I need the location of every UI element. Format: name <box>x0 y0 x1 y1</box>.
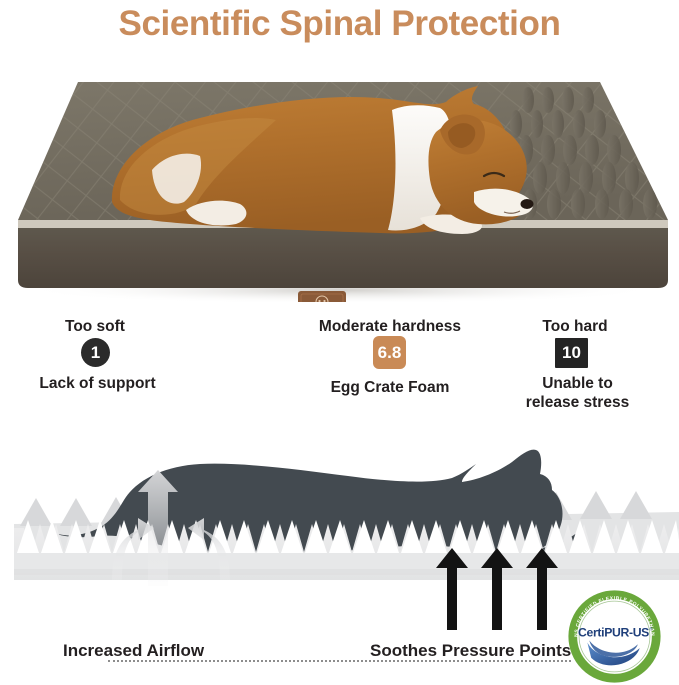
page-title: Scientific Spinal Protection <box>0 2 679 46</box>
scale-right-top-label: Too hard <box>500 318 650 336</box>
scale-right-bottom-line1: Unable to <box>495 374 660 393</box>
scale-marker-6-8: 6.8 <box>373 336 406 369</box>
scale-right-bottom-line2: release stress <box>495 393 660 412</box>
scale-marker-1: 1 <box>81 338 110 367</box>
scale-left-top-label: Too soft <box>20 318 170 336</box>
certipur-us-badge: CONTAINS CERTIFIED FLEXIBLE POLYURETHANE… <box>566 588 663 685</box>
pressure-point-arrows <box>436 548 558 630</box>
dog-bed-illustration <box>0 52 679 302</box>
scale-right-bottom-label: Unable to release stress <box>495 374 660 412</box>
caption-increased-airflow: Increased Airflow <box>63 641 204 661</box>
scale-middle-top-label: Moderate hardness <box>280 318 500 336</box>
scale-middle-bottom-label: Egg Crate Foam <box>290 378 490 397</box>
caption-soothes-pressure-points: Soothes Pressure Points <box>370 641 571 661</box>
bed-side-wall <box>18 228 668 288</box>
infographic-page: Scientific Spinal Protection <box>0 0 679 685</box>
scale-marker-10: 10 <box>555 338 588 368</box>
hero-product-photo <box>0 52 679 302</box>
scale-left-bottom-label: Lack of support <box>10 374 185 393</box>
brand-logo-tag <box>298 291 346 302</box>
badge-center-text: CertiPUR-US <box>578 626 649 640</box>
